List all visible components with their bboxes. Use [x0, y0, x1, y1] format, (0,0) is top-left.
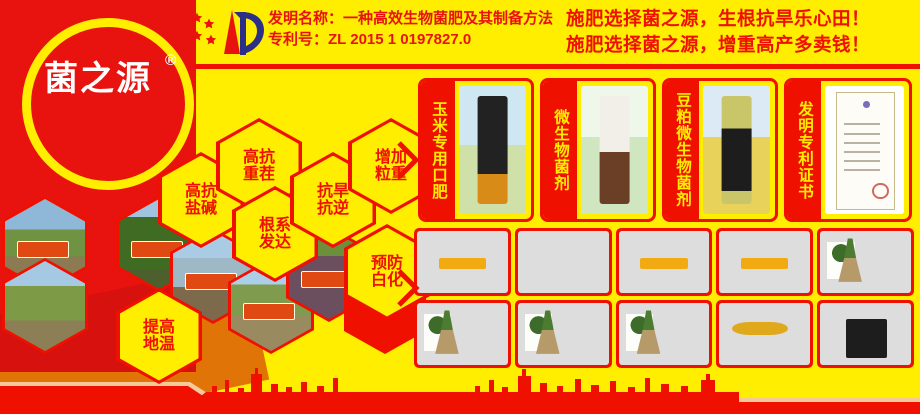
product-card-yumi-kouFei[interactable]: 玉米专用口肥 — [418, 78, 534, 222]
photo-wide-field-sign[interactable] — [716, 228, 813, 296]
benefit-label-line1: 根系 — [259, 217, 291, 234]
header-divider — [196, 64, 920, 69]
photo-root-bag-display[interactable] — [817, 300, 914, 368]
benefit-label-line1: 高抗 — [243, 149, 275, 166]
poster-canvas: 菌之源 ® 发明名称：一种高效生物菌肥及其制备方法 专利号：ZL 2015 1 … — [0, 0, 920, 414]
product-bag — [599, 96, 630, 204]
product-card-weishengwu-junji[interactable]: 微生物菌剂 — [540, 78, 656, 222]
product-image — [703, 86, 770, 214]
benefit-label-line2: 盐碱 — [185, 200, 217, 217]
patent-certificate-document — [836, 92, 895, 209]
product-label: 微生物菌剂 — [552, 109, 568, 192]
product-card-patent-certificate[interactable]: 发明专利证书 — [784, 78, 912, 222]
benefit-label-line1: 提高 — [143, 319, 175, 336]
chevron-right-icon-products — [396, 140, 420, 180]
product-label: 玉米专用口肥 — [430, 101, 446, 200]
product-image — [581, 86, 648, 214]
product-label-band: 玉米专用口肥 — [421, 81, 455, 219]
slogan-line-1: 施肥选择菌之源，生根抗旱乐心田！ — [566, 6, 870, 32]
product-label-band: 微生物菌剂 — [543, 81, 577, 219]
photo-corn-cob-compare[interactable] — [716, 300, 813, 368]
benefit-label-line1: 抗旱 — [317, 183, 349, 200]
product-image — [459, 86, 526, 214]
slogan-line-2: 施肥选择菌之源，增重高产多卖钱！ — [566, 32, 870, 58]
patent-sail-emblem — [190, 6, 272, 62]
photo-farmer-sign-field[interactable] — [414, 228, 511, 296]
photo-seedling-pots[interactable] — [515, 228, 612, 296]
slogan-block: 施肥选择菌之源，生根抗旱乐心田！ 施肥选择菌之源，增重高产多卖钱！ — [566, 6, 870, 59]
photo-root-comparison-b[interactable] — [414, 300, 511, 368]
product-card-doupo-weishengwu-junji[interactable]: 豆粕微生物菌剂 — [662, 78, 778, 222]
benefit-label-line2: 抗逆 — [317, 200, 349, 217]
product-label: 发明专利证书 — [796, 101, 812, 200]
photo-root-hand-compare[interactable] — [515, 300, 612, 368]
photo-root-comparison-a[interactable] — [817, 228, 914, 296]
product-label-band: 发明专利证书 — [787, 81, 821, 219]
patent-number: 专利号：ZL 2015 1 0197827.0 — [268, 29, 553, 50]
brand-logo-text: 菌之源 — [44, 62, 152, 96]
certificate-image — [825, 86, 904, 214]
benefit-label-line2: 发达 — [259, 234, 291, 251]
product-bag — [721, 96, 752, 204]
patent-title: 发明名称：一种高效生物菌肥及其制备方法 — [268, 8, 553, 29]
logo-disc — [36, 32, 182, 178]
certificate-emblem-icon — [863, 101, 870, 108]
benefit-label-line2: 地温 — [143, 336, 175, 353]
photo-control-paddy[interactable] — [616, 228, 713, 296]
evidence-photo-gallery — [414, 228, 914, 368]
benefit-label-line1: 高抗 — [185, 183, 217, 200]
registered-trademark-mark: ® — [165, 52, 176, 69]
product-label-band: 豆粕微生物菌剂 — [665, 81, 699, 219]
product-label: 豆粕微生物菌剂 — [674, 92, 690, 208]
patent-info: 发明名称：一种高效生物菌肥及其制备方法 专利号：ZL 2015 1 019782… — [268, 8, 553, 51]
product-bag — [477, 96, 508, 204]
benefit-label-line2: 重茬 — [243, 166, 275, 183]
photo-root-board-compare[interactable] — [616, 300, 713, 368]
chevron-right-icon-gallery — [396, 268, 420, 308]
official-seal-icon — [872, 183, 889, 200]
